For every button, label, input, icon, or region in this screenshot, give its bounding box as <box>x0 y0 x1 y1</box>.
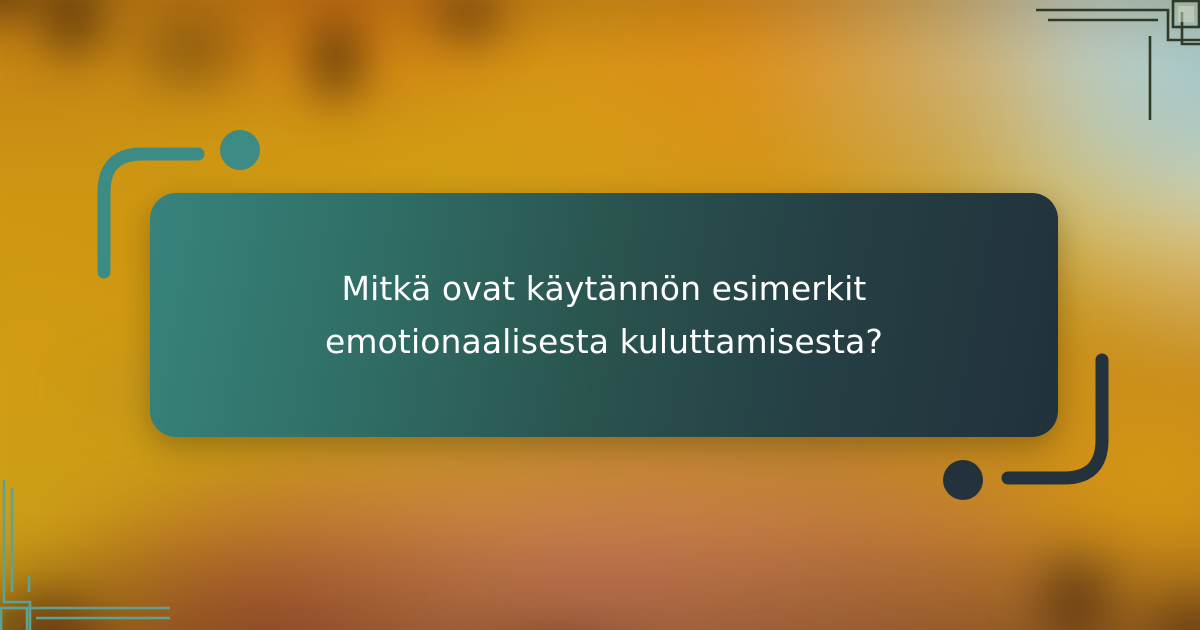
question-card: Mitkä ovat käytännön esimerkit emotionaa… <box>150 193 1058 437</box>
question-title: Mitkä ovat käytännön esimerkit emotionaa… <box>256 262 952 369</box>
question-card-banner: Mitkä ovat käytännön esimerkit emotionaa… <box>0 0 1200 630</box>
circle-dot-top-left-icon <box>220 130 260 170</box>
circle-dot-bottom-right-icon <box>943 460 983 500</box>
